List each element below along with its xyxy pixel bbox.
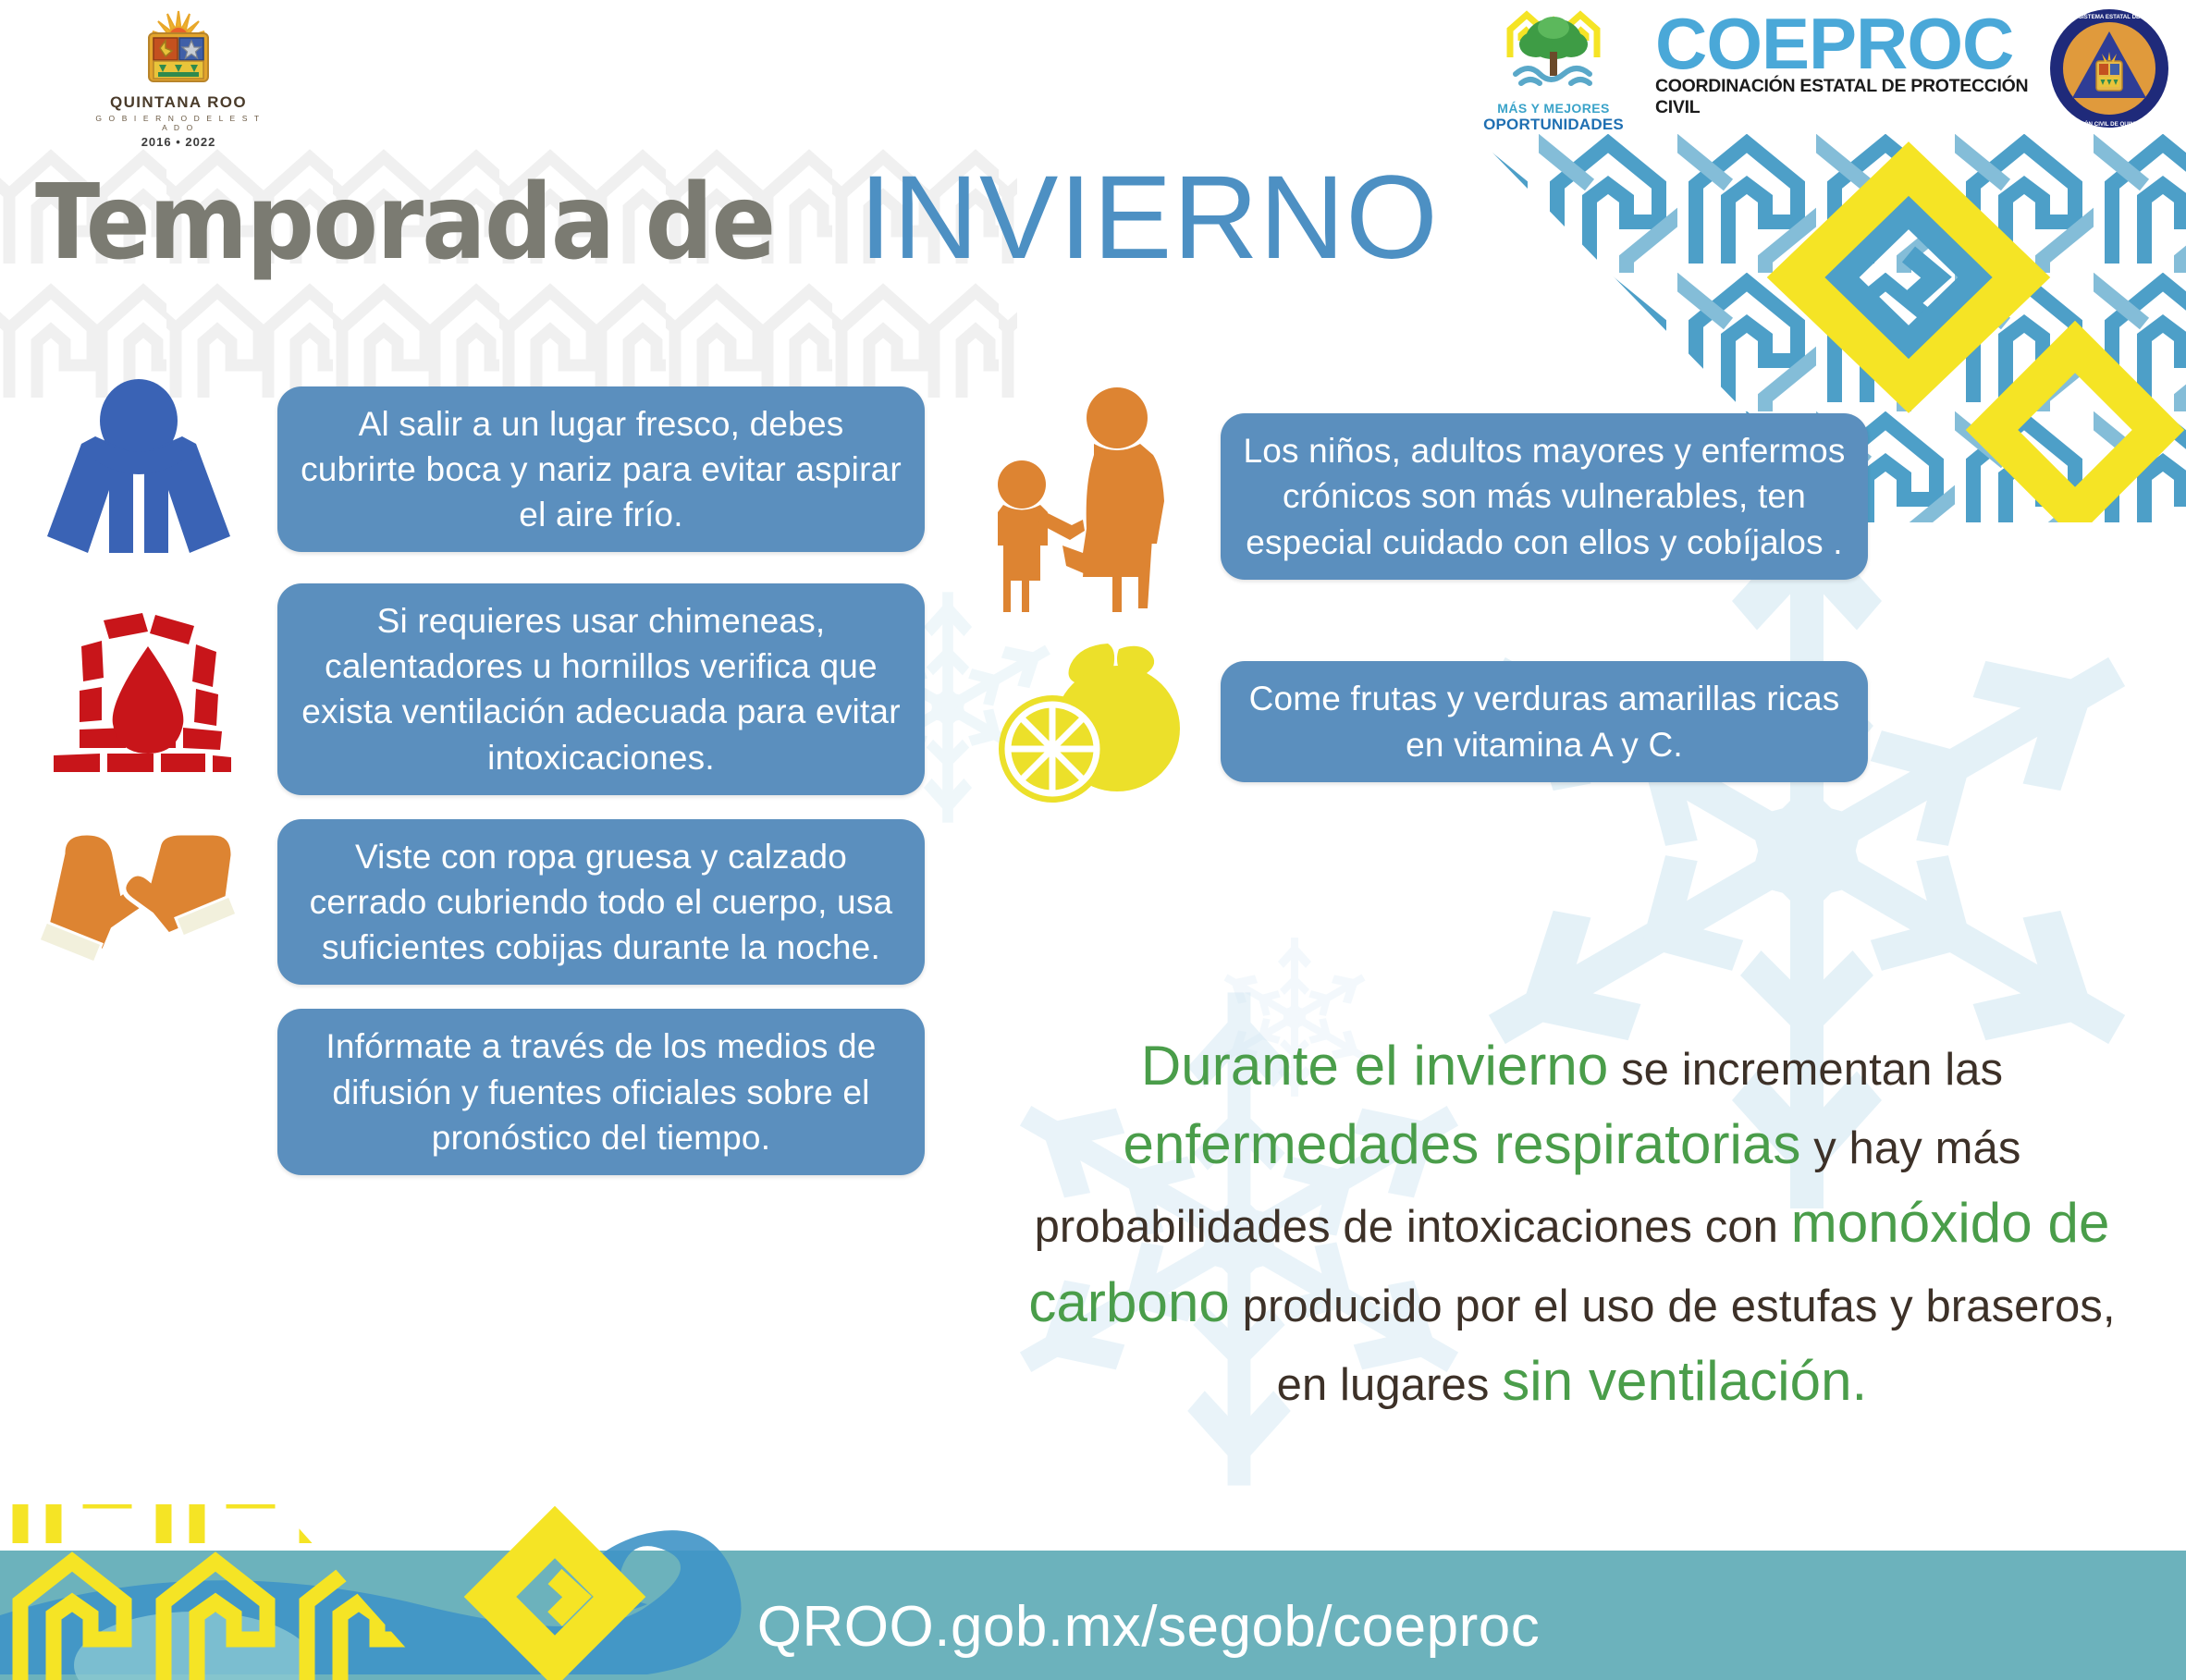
svg-text:PROTECCIÓN CIVIL DE QUINTANA R: PROTECCIÓN CIVIL DE QUINTANA ROO — [2055, 120, 2165, 128]
fireplace-icon — [46, 606, 231, 772]
tip-icon-slot — [980, 381, 1221, 612]
tips-right-column: Los niños, adultos mayores y enfermos cr… — [980, 381, 2182, 831]
footer-url[interactable]: QROO.gob.mx/segob/coeproc — [0, 1594, 2186, 1660]
title-part-temporada: Temporada de — [35, 171, 774, 275]
quintana-roo-logo: QUINTANA ROO G O B I E R N O D E L E S T… — [91, 7, 266, 137]
svg-text:SISTEMA ESTATAL DE: SISTEMA ESTATAL DE — [2079, 14, 2140, 20]
para-highlight-4: sin ventilación. — [1502, 1350, 1867, 1412]
coeproc-acronym: COEPROC — [1655, 9, 2044, 78]
header-bar: QUINTANA ROO G O B I E R N O D E L E S T… — [0, 0, 2186, 139]
mas-logo-line1: MÁS Y MEJORES — [1480, 101, 1627, 116]
tip-item: Come frutas y verduras amarillas ricas e… — [980, 636, 2182, 807]
mas-logo-line2: OPORTUNIDADES — [1480, 116, 1627, 134]
tip-item: Al salir a un lugar fresco, debes cubrir… — [0, 379, 962, 559]
page-title: Temporada de INVIERNO — [35, 159, 1439, 277]
elderly-with-child-icon — [994, 381, 1207, 612]
tip-item: Los niños, adultos mayores y enfermos cr… — [980, 381, 2182, 612]
para-highlight-1: Durante el invierno — [1141, 1035, 1609, 1097]
mas-oportunidades-logo: MÁS Y MEJORES OPORTUNIDADES — [1480, 4, 1627, 133]
qroo-logo-subtitle: G O B I E R N O D E L E S T A D O — [91, 114, 266, 132]
tip-item: Si requieres usar chimeneas, calentadore… — [0, 583, 962, 795]
tips-left-column: Al salir a un lugar fresco, debes cubrir… — [0, 379, 962, 1199]
tree-and-water-icon — [1484, 4, 1623, 96]
tip-text: Come frutas y verduras amarillas ricas e… — [1221, 661, 1868, 781]
tip-text: Si requieres usar chimeneas, calentadore… — [277, 583, 925, 795]
qroo-logo-years: 2016 • 2022 — [91, 135, 266, 149]
tip-text: Viste con ropa gruesa y calzado cerrado … — [277, 819, 925, 986]
tip-icon-slot — [0, 826, 277, 978]
coeproc-logo: COEPROC COORDINACIÓN ESTATAL DE PROTECCI… — [1655, 9, 2044, 118]
para-highlight-2: enfermedades respiratorias — [1124, 1113, 1801, 1175]
tip-icon-slot — [0, 606, 277, 772]
tip-icon-slot — [0, 379, 277, 559]
poster-root: QUINTANA ROO G O B I E R N O D E L E S T… — [0, 0, 2186, 1680]
tip-text: Al salir a un lugar fresco, debes cubrir… — [277, 386, 925, 553]
tip-text: Los niños, adultos mayores y enfermos cr… — [1221, 413, 1868, 580]
winter-warning-paragraph: Durante el invierno se incrementan las e… — [999, 1026, 2145, 1420]
title-part-invierno: INVIERNO — [859, 159, 1439, 277]
citrus-fruit-icon — [999, 636, 1202, 807]
tip-item: Infórmate a través de los medios de difu… — [0, 1009, 962, 1175]
proteccion-civil-seal-icon: SISTEMA ESTATAL DE PROTECCIÓN CIVIL DE Q… — [2048, 7, 2170, 129]
coeproc-expansion: COORDINACIÓN ESTATAL DE PROTECCIÓN CIVIL — [1655, 76, 2044, 118]
mittens-icon — [18, 826, 259, 978]
qroo-logo-name: QUINTANA ROO — [91, 93, 266, 112]
para-plain-1: se incrementan las — [1608, 1045, 2003, 1095]
tip-icon-slot — [980, 636, 1221, 807]
hooded-jacket-icon — [40, 379, 239, 559]
tip-text: Infórmate a través de los medios de difu… — [277, 1009, 925, 1175]
tip-item: Viste con ropa gruesa y calzado cerrado … — [0, 819, 962, 986]
quintana-roo-coat-of-arms-icon — [134, 7, 223, 92]
